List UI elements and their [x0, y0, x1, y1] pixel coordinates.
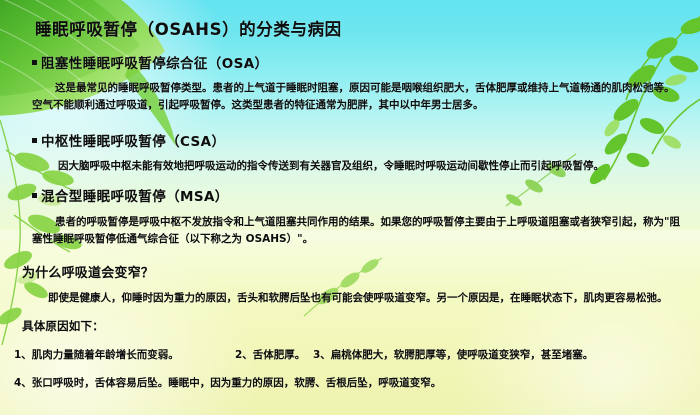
section-msa-paragraph-line1: 患者的呼吸暂停是呼吸中枢不发放指令和上气道阻塞共同作用的结果。如果您的呼吸暂停主… [55, 214, 680, 229]
section-osa-paragraph-line2: 空气不能顺利通过呼吸道，引起呼吸暂停。这类型患者的特征通常为肥胖，其中以中年男士… [32, 97, 484, 112]
section-osa-paragraph-line1: 这是最常见的睡眠呼吸暂停类型。患者的上气道于睡眠时阻塞，原因可能是咽喉组织肥大，… [55, 80, 675, 95]
glow-bottom-right [450, 255, 700, 415]
list-item: 3、扁桃体肥大，软腭肥厚等，使呼吸道变狭窄，甚至堵塞。 [313, 347, 593, 362]
section-msa-paragraph-line2: 塞性睡眠呼吸暂停低通气综合征（以下称之为 OSAHS）"。 [32, 231, 313, 246]
list-item: 4、张口呼吸时，舌体容易后坠。睡眠中，因为重力的原因，软腭、舌根后坠，呼吸道变窄… [14, 375, 441, 390]
question-paragraph: 即使是健康人，仰睡时因为重力的原因，舌头和软腭后坠也有可能会使呼吸道变窄。另一个… [48, 290, 668, 305]
slide-canvas: 睡眠呼吸暂停（OSAHS）的分类与病因 阻塞性睡眠呼吸暂停综合征（OSA） 这是… [0, 0, 700, 415]
question-heading: 为什么呼吸道会变窄？ [22, 262, 154, 281]
bullet-square-icon [32, 60, 37, 65]
section-heading-osa: 阻塞性睡眠呼吸暂停综合征（OSA） [32, 52, 268, 72]
section-heading-csa-label: 中枢性睡眠呼吸暂停（CSA） [41, 134, 225, 150]
list-heading: 具体原因如下： [22, 318, 104, 334]
bullet-square-icon [32, 193, 37, 198]
bullet-square-icon [32, 138, 37, 143]
section-heading-msa: 混合型睡眠呼吸暂停（MSA） [32, 185, 229, 205]
page-title: 睡眠呼吸暂停（OSAHS）的分类与病因 [35, 16, 342, 40]
sprig-middle-graphic [300, 250, 390, 320]
section-heading-osa-label: 阻塞性睡眠呼吸暂停综合征（OSA） [41, 56, 268, 72]
list-item: 1、肌肉力量随着年龄增长而变弱。 [14, 347, 179, 362]
list-item: 2、舌体肥厚。 [235, 347, 305, 362]
section-csa-paragraph-line1: 因大脑呼吸中枢未能有效地把呼吸运动的指令传送到有关器官及组织，令睡眠时呼吸运动间… [58, 158, 604, 173]
section-heading-csa: 中枢性睡眠呼吸暂停（CSA） [32, 130, 225, 150]
section-heading-msa-label: 混合型睡眠呼吸暂停（MSA） [41, 189, 229, 205]
